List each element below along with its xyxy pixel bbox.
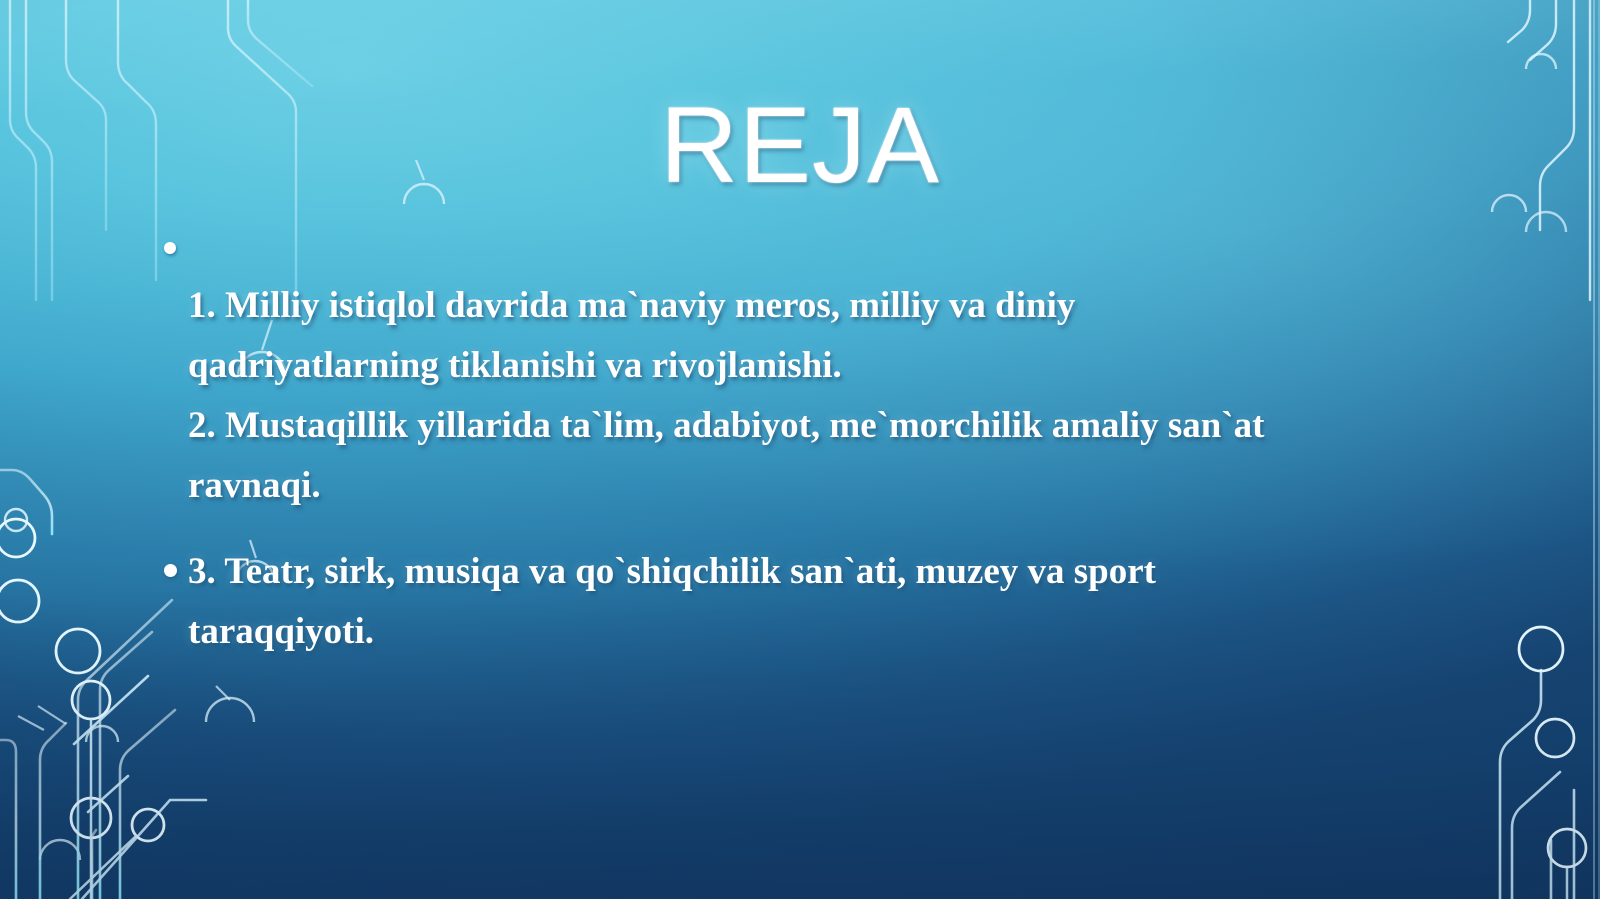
bullet-marker-none-2 (150, 396, 188, 418)
bullet-text-empty (188, 218, 1335, 244)
bullet-text-2: 2. Mustaqillik yillarida ta`lim, adabiyo… (188, 396, 1335, 516)
presentation-slide: REJA 1. Milliy istiqlol davrida ma`naviy… (0, 0, 1600, 899)
bullet-text-3: 3. Teatr, sirk, musiqa va qo`shiqchilik … (188, 542, 1335, 662)
bullet-text-1: 1. Milliy istiqlol davrida ma`naviy mero… (188, 276, 1335, 396)
bullet-marker-icon (150, 218, 188, 254)
bullet-marker-none-1 (150, 276, 188, 298)
bullet-item-3: 3. Teatr, sirk, musiqa va qo`shiqchilik … (150, 542, 1335, 662)
bullet-marker-icon-3 (150, 542, 188, 577)
spacer (150, 254, 1335, 276)
spacer-2 (150, 516, 1335, 542)
bullet-item-1: 1. Milliy istiqlol davrida ma`naviy mero… (150, 276, 1335, 396)
bullet-item-2: 2. Mustaqillik yillarida ta`lim, adabiyo… (150, 396, 1335, 516)
slide-body: 1. Milliy istiqlol davrida ma`naviy mero… (150, 218, 1335, 662)
slide-title: REJA (0, 88, 1600, 201)
bullet-item-empty (150, 218, 1335, 254)
